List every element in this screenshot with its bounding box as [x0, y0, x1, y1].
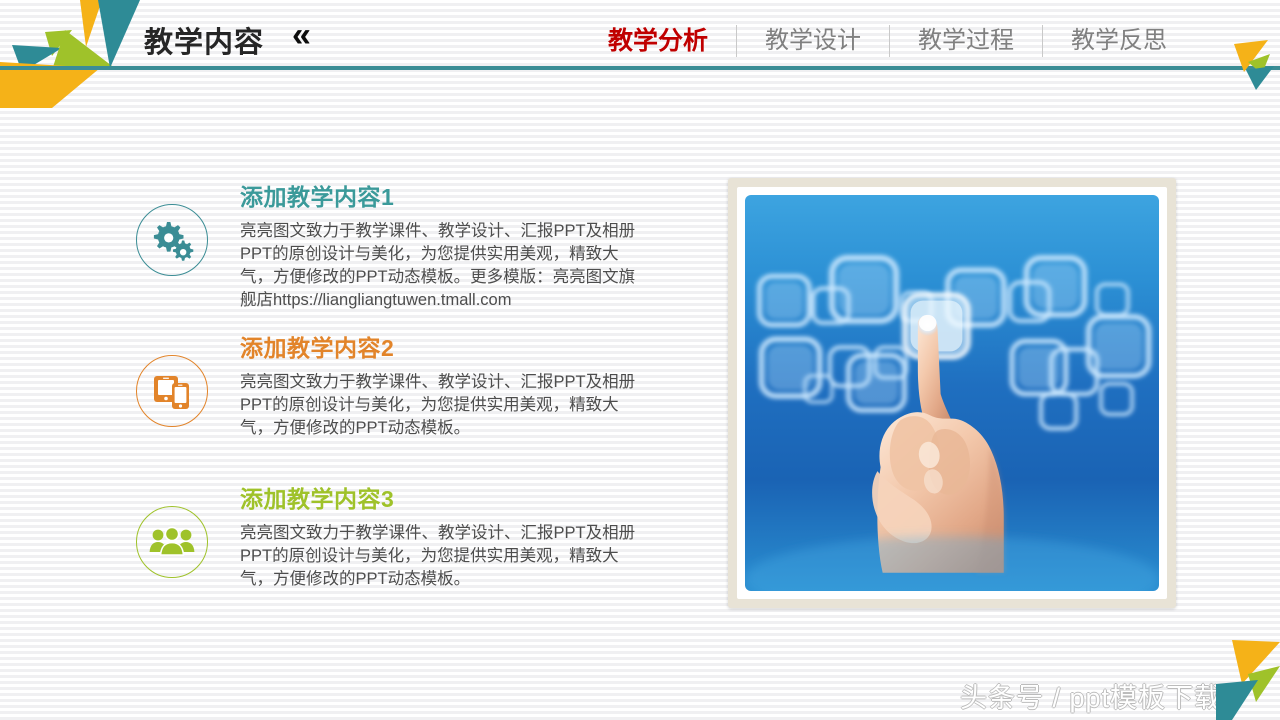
slide-root: 教学内容 « 教学分析 教学设计 教学过程 教学反思 — [0, 0, 1280, 720]
tab-jiaoxue-sheji[interactable]: 教学设计 — [737, 20, 889, 62]
devices-icon — [136, 355, 208, 427]
tab-jiaoxue-fansi[interactable]: 教学反思 — [1043, 20, 1195, 62]
touchscreen-hand-photo — [745, 195, 1159, 591]
top-right-triangle-decoration — [1222, 40, 1280, 95]
photo-mat — [737, 187, 1167, 599]
content-block-text: 亮亮图文致力于教学课件、教学设计、汇报PPT及相册PPT的原创设计与美化，为您提… — [240, 371, 640, 440]
content-block-body: 添加教学内容3 亮亮图文致力于教学课件、教学设计、汇报PPT及相册PPT的原创设… — [240, 484, 656, 591]
content-block-text: 亮亮图文致力于教学课件、教学设计、汇报PPT及相册PPT的原创设计与美化，为您提… — [240, 522, 640, 591]
content-block-heading: 添加教学内容1 — [240, 182, 656, 212]
content-block-body: 添加教学内容2 亮亮图文致力于教学课件、教学设计、汇报PPT及相册PPT的原创设… — [240, 333, 656, 440]
content-block-heading: 添加教学内容3 — [240, 484, 656, 514]
photo-frame — [728, 178, 1176, 608]
people-group-icon — [136, 506, 208, 578]
content-block-body: 添加教学内容1 亮亮图文致力于教学课件、教学设计、汇报PPT及相册PPT的原创设… — [240, 182, 656, 312]
gears-icon — [136, 204, 208, 276]
content-block-text: 亮亮图文致力于教学课件、教学设计、汇报PPT及相册PPT的原创设计与美化，为您提… — [240, 220, 640, 312]
watermark-text: 头条号 / ppt模板下载 — [960, 676, 1222, 715]
content-block-1: 添加教学内容1 亮亮图文致力于教学课件、教学设计、汇报PPT及相册PPT的原创设… — [136, 182, 656, 312]
bottom-right-triangle-decoration — [1198, 640, 1280, 720]
content-list: 添加教学内容1 亮亮图文致力于教学课件、教学设计、汇报PPT及相册PPT的原创设… — [0, 0, 700, 720]
tab-jiaoxue-guocheng[interactable]: 教学过程 — [890, 20, 1042, 62]
content-block-2: 添加教学内容2 亮亮图文致力于教学课件、教学设计、汇报PPT及相册PPT的原创设… — [136, 333, 656, 440]
content-block-3: 添加教学内容3 亮亮图文致力于教学课件、教学设计、汇报PPT及相册PPT的原创设… — [136, 484, 656, 591]
content-block-heading: 添加教学内容2 — [240, 333, 656, 363]
